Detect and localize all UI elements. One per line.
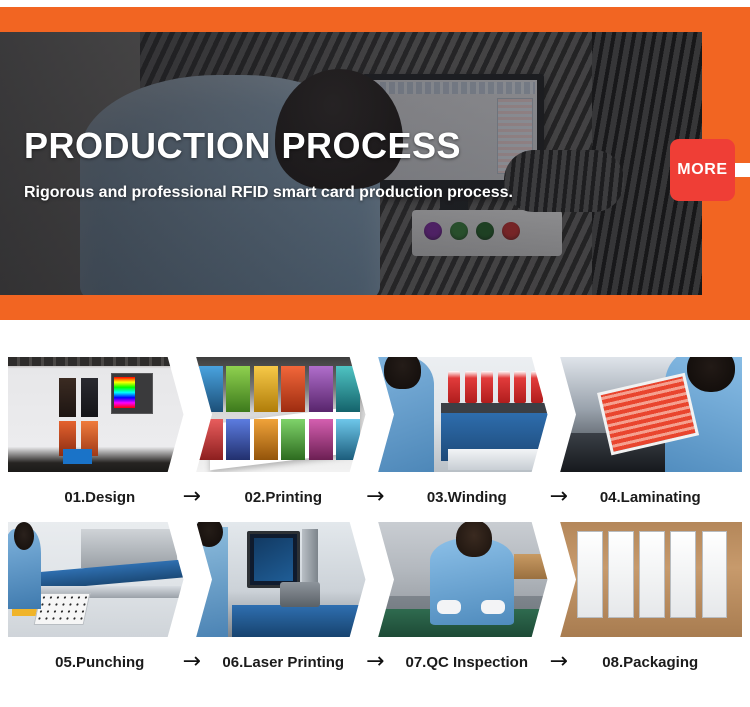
process-image-02[interactable] <box>192 357 376 472</box>
process-image-strip-2 <box>8 522 742 637</box>
process-image-06[interactable] <box>192 522 376 637</box>
page-title: PRODUCTION PROCESS <box>24 128 461 164</box>
arrow-right-icon: → <box>366 486 384 508</box>
hero-photo: PRODUCTION PROCESS Rigorous and professi… <box>0 32 702 295</box>
process-row-1: 01.Design → 02.Printing → 03.Winding → 0… <box>8 357 742 522</box>
more-button[interactable]: MORE <box>670 139 735 201</box>
arrow-right-icon: → <box>366 651 384 673</box>
process-labels-row-2: 05.Punching → 06.Laser Printing → 07.QC … <box>8 637 742 687</box>
process-image-04[interactable] <box>559 357 743 472</box>
process-label-01: 01.Design <box>8 489 192 506</box>
process-label-03: 03.Winding <box>375 489 559 506</box>
process-label-05: 05.Punching <box>8 654 192 671</box>
arrow-right-icon: → <box>550 651 568 673</box>
arrow-right-icon: → <box>183 486 201 508</box>
process-label-08: 08.Packaging <box>559 654 743 671</box>
process-label-07: 07.QC Inspection <box>375 654 559 671</box>
process-labels-row-1: 01.Design → 02.Printing → 03.Winding → 0… <box>8 472 742 522</box>
process-image-07[interactable] <box>375 522 559 637</box>
process-row-2: 05.Punching → 06.Laser Printing → 07.QC … <box>8 522 742 687</box>
more-button-tail <box>735 163 750 177</box>
process-image-08[interactable] <box>559 522 743 637</box>
hero-subtitle: Rigorous and professional RFID smart car… <box>24 184 513 202</box>
production-process-grid: 01.Design → 02.Printing → 03.Winding → 0… <box>8 357 742 687</box>
process-label-02: 02.Printing <box>192 489 376 506</box>
process-image-strip-1 <box>8 357 742 472</box>
arrow-right-icon: → <box>183 651 201 673</box>
process-label-04: 04.Laminating <box>559 489 743 506</box>
arrow-right-icon: → <box>550 486 568 508</box>
process-image-03[interactable] <box>375 357 559 472</box>
process-image-05[interactable] <box>8 522 192 637</box>
process-label-06: 06.Laser Printing <box>192 654 376 671</box>
process-image-01[interactable] <box>8 357 192 472</box>
hero-banner: PRODUCTION PROCESS Rigorous and professi… <box>0 7 750 320</box>
